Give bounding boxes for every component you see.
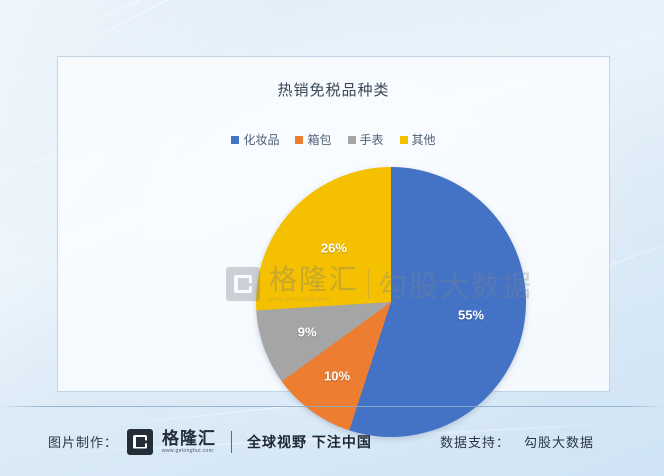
page-title: 热销免税品种类 <box>58 79 609 100</box>
legend-item-2[interactable]: 手表 <box>348 131 384 148</box>
footer-made-by-label: 图片制作： <box>48 432 118 451</box>
footer-slogan: 全球视野 下注中国 <box>247 432 372 452</box>
legend-item-0[interactable]: 化妆品 <box>231 131 279 148</box>
footer-data-source: 数据支持： 勾股大数据 <box>440 432 594 451</box>
slice-label-3: 26% <box>321 241 347 256</box>
gelonghui-logo-icon <box>127 429 153 455</box>
footer-brand-url: www.gelonghui.com <box>162 449 216 454</box>
legend-swatch-icon <box>348 136 356 144</box>
legend-swatch-icon <box>295 136 303 144</box>
footer-data-value: 勾股大数据 <box>524 432 594 451</box>
legend-label: 箱包 <box>307 131 331 148</box>
slice-label-2: 9% <box>298 325 317 340</box>
legend-swatch-icon <box>231 136 239 144</box>
legend-label: 手表 <box>360 131 384 148</box>
chart-legend: 化妆品箱包手表其他 <box>58 131 609 148</box>
gelonghui-logo-icon <box>226 267 260 301</box>
legend-label: 其他 <box>412 131 436 148</box>
slice-label-1: 10% <box>324 369 350 384</box>
pie-chart: 55%10%9%26% <box>256 167 526 437</box>
footer: 图片制作： 格隆汇 www.gelonghui.com 全球视野 下注中国 数据… <box>0 407 664 476</box>
footer-brand: 格隆汇 www.gelonghui.com <box>162 430 216 454</box>
legend-item-1[interactable]: 箱包 <box>295 131 331 148</box>
pie-slices <box>256 167 526 437</box>
footer-credits: 图片制作： 格隆汇 www.gelonghui.com 全球视野 下注中国 <box>48 429 372 455</box>
legend-label: 化妆品 <box>243 131 279 148</box>
footer-data-label: 数据支持： <box>440 432 510 451</box>
chart-card: 热销免税品种类 化妆品箱包手表其他 55%10%9%26% 格隆汇 www.ge… <box>57 56 610 392</box>
slice-label-0: 55% <box>458 307 484 322</box>
footer-brand-name: 格隆汇 <box>162 430 216 447</box>
footer-divider-vertical <box>231 431 232 453</box>
legend-swatch-icon <box>400 136 408 144</box>
legend-item-3[interactable]: 其他 <box>400 131 436 148</box>
